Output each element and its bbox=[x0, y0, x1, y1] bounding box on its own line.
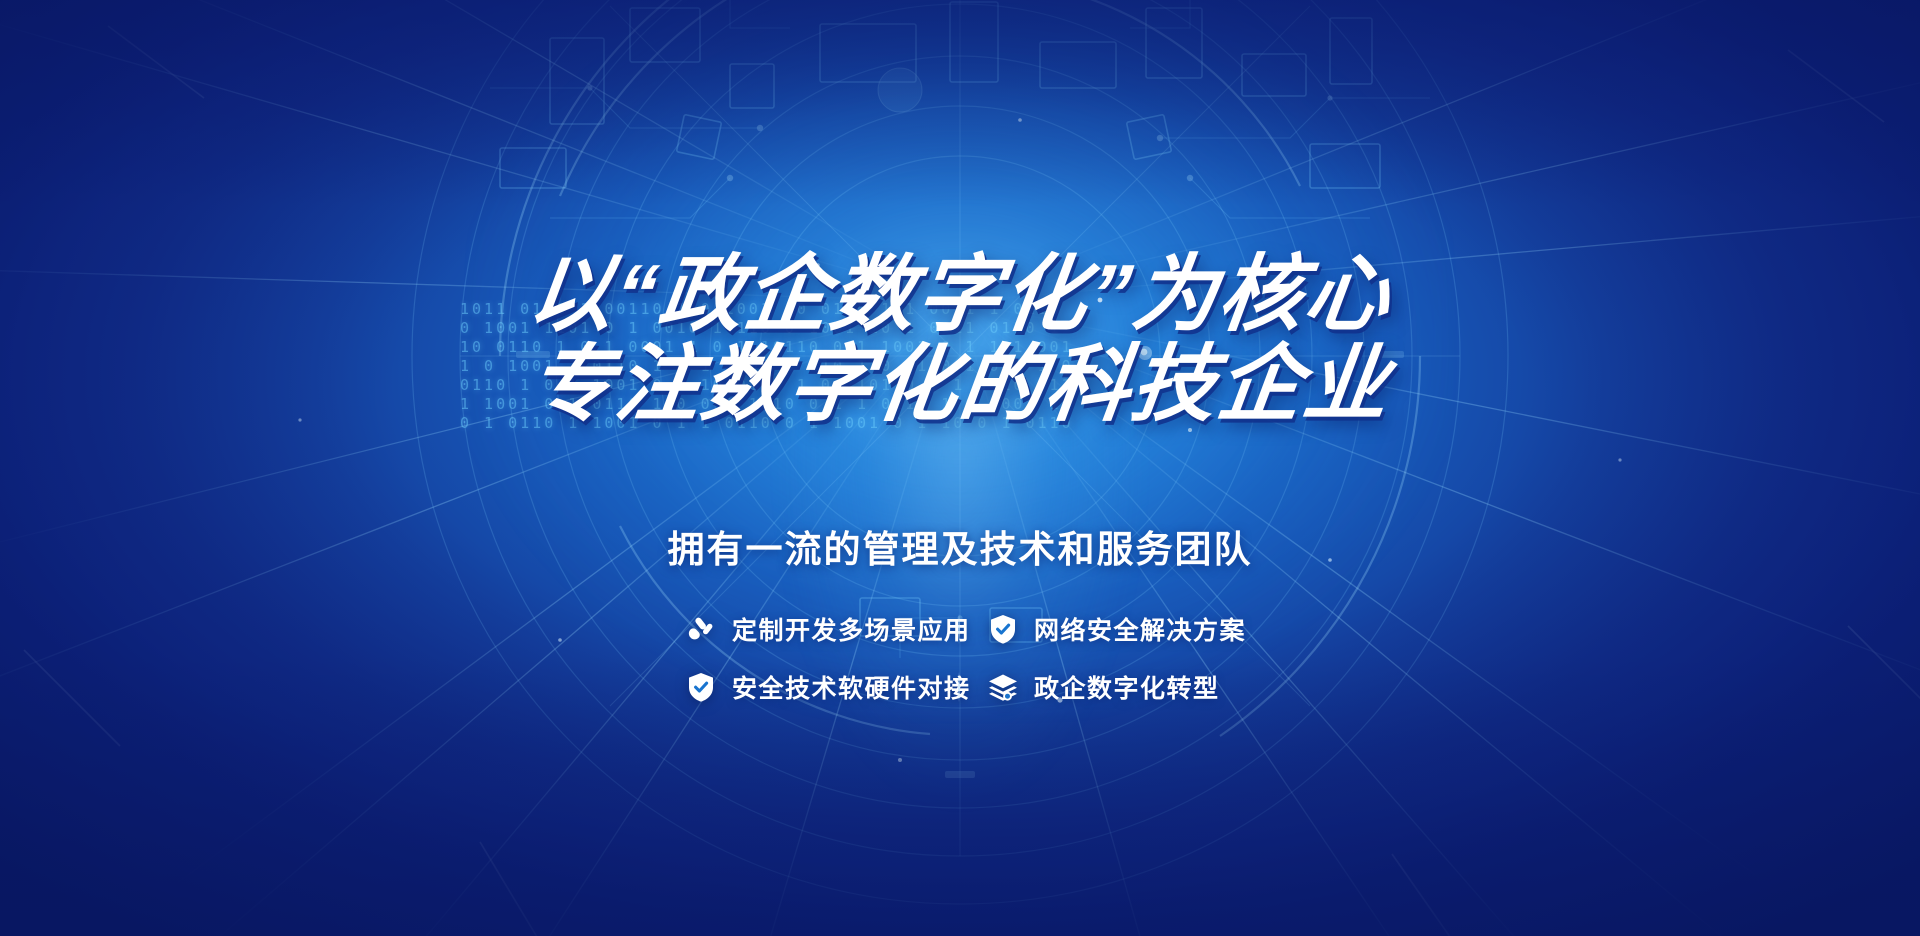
feature-list: 定制开发多场景应用 网络安全解决方案 bbox=[684, 611, 1236, 705]
feature-divider bbox=[958, 614, 960, 644]
feature-row: 安全技术软硬件对接 政企数字化转型 bbox=[684, 669, 1236, 705]
brush-pen-icon bbox=[684, 612, 718, 646]
feature-row: 定制开发多场景应用 网络安全解决方案 bbox=[684, 611, 1236, 647]
shield-check-icon bbox=[986, 612, 1020, 646]
subtitle: 拥有一流的管理及技术和服务团队 bbox=[668, 519, 1253, 573]
feature-divider bbox=[958, 672, 960, 702]
feature-label: 定制开发多场景应用 bbox=[732, 611, 971, 647]
hero-banner: 1011 0100 1 00110 1 0 1001 10 0110 101 0… bbox=[0, 0, 1920, 936]
headline-line-2: 专注数字化的科技企业 bbox=[524, 342, 1396, 426]
feature-item-security-integration[interactable]: 安全技术软硬件对接 bbox=[684, 669, 954, 705]
feature-label: 政企数字化转型 bbox=[1034, 669, 1220, 705]
feature-item-custom-development[interactable]: 定制开发多场景应用 bbox=[684, 611, 954, 647]
shield-check-icon bbox=[684, 670, 718, 704]
feature-label: 安全技术软硬件对接 bbox=[732, 669, 971, 705]
headline-line-1: 以“政企数字化”为核心 bbox=[524, 252, 1396, 336]
feature-item-network-security[interactable]: 网络安全解决方案 bbox=[986, 611, 1236, 647]
layers-stack-icon bbox=[986, 670, 1020, 704]
banner-content: 以“政企数字化”为核心 专注数字化的科技企业 拥有一流的管理及技术和服务团队 定… bbox=[0, 0, 1920, 936]
feature-label: 网络安全解决方案 bbox=[1034, 611, 1246, 647]
page-title: 以“政企数字化”为核心 专注数字化的科技企业 bbox=[529, 252, 1391, 426]
feature-item-digital-transformation[interactable]: 政企数字化转型 bbox=[986, 669, 1236, 705]
